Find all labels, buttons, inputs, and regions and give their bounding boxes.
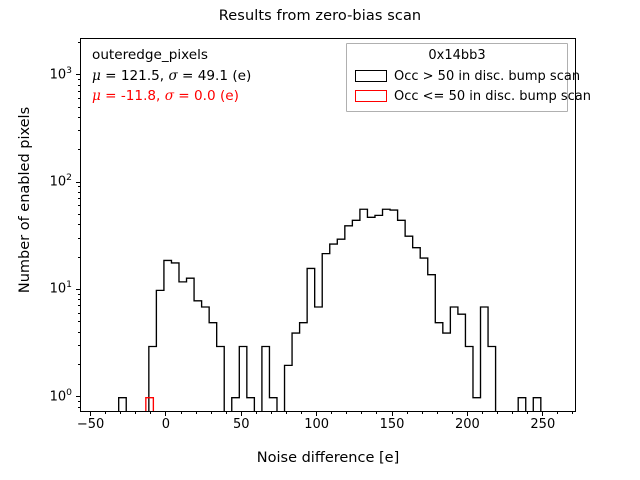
x-minor-tick-mark: [407, 412, 408, 414]
y-minor-tick-mark: [78, 117, 80, 118]
y-minor-tick-mark: [78, 321, 80, 322]
x-minor-tick-mark: [301, 412, 302, 414]
series-occ-gt-50: [119, 209, 541, 412]
stats-red-line: μ = -11.8, σ = 0.0 (e): [92, 86, 251, 107]
x-minor-tick-mark: [331, 412, 332, 414]
y-tick-mark: [76, 74, 80, 75]
x-tick-label: 0: [136, 417, 196, 432]
y-minor-tick-mark: [78, 305, 80, 306]
legend-label: Occ > 50 in disc. bump scan: [394, 69, 580, 84]
x-tick-label: 100: [287, 417, 347, 432]
y-tick-label: 102: [26, 172, 72, 189]
y-minor-tick-mark: [78, 192, 80, 193]
y-minor-tick-mark: [78, 345, 80, 346]
x-tick-mark: [241, 412, 242, 416]
x-tick-label: 150: [362, 417, 422, 432]
x-minor-tick-mark: [482, 412, 483, 414]
y-tick-label: 100: [26, 387, 72, 404]
y-minor-tick-mark: [78, 85, 80, 86]
x-minor-tick-mark: [256, 412, 257, 414]
dataset-label: outeredge_pixels: [92, 45, 251, 66]
x-minor-tick-mark: [211, 412, 212, 414]
x-minor-tick-mark: [361, 412, 362, 414]
x-minor-tick-mark: [376, 412, 377, 414]
x-minor-tick-mark: [346, 412, 347, 414]
legend-swatch: [355, 70, 387, 82]
x-tick-label: 50: [211, 417, 271, 432]
x-minor-tick-mark: [135, 412, 136, 414]
y-minor-tick-mark: [78, 313, 80, 314]
x-tick-mark: [316, 412, 317, 416]
histogram-step-path: [262, 346, 277, 412]
x-minor-tick-mark: [557, 412, 558, 414]
y-minor-tick-mark: [78, 238, 80, 239]
y-minor-tick-mark: [78, 130, 80, 131]
x-minor-tick-mark: [105, 412, 106, 414]
x-minor-tick-mark: [572, 412, 573, 414]
x-tick-label: 200: [437, 417, 497, 432]
x-tick-mark: [542, 412, 543, 416]
histogram-step-path: [285, 209, 496, 412]
figure-canvas: Results from zero-bias scan Number of en…: [0, 0, 640, 480]
y-minor-tick-mark: [78, 149, 80, 150]
x-axis-label: Noise difference [e]: [80, 450, 576, 466]
y-minor-tick-mark: [78, 332, 80, 333]
y-tick-mark: [76, 182, 80, 183]
y-minor-tick-mark: [78, 299, 80, 300]
y-minor-tick-mark: [78, 91, 80, 92]
x-minor-tick-mark: [452, 412, 453, 414]
x-tick-label: 250: [513, 417, 573, 432]
legend-entries: Occ > 50 in disc. bump scanOcc <= 50 in …: [353, 66, 561, 106]
x-minor-tick-mark: [527, 412, 528, 414]
series-occ-le-50: [146, 398, 154, 412]
histogram-step-path: [518, 398, 526, 412]
histogram-step-path: [149, 260, 224, 412]
y-minor-tick-mark: [78, 401, 80, 402]
y-tick-label: 103: [26, 65, 72, 82]
legend-entry: Occ <= 50 in disc. bump scan: [353, 86, 561, 106]
x-minor-tick-mark: [497, 412, 498, 414]
histogram-step-path: [119, 398, 127, 412]
y-tick-label: 101: [26, 279, 72, 296]
y-minor-tick-mark: [78, 214, 80, 215]
x-tick-mark: [392, 412, 393, 416]
x-minor-tick-mark: [226, 412, 227, 414]
y-minor-tick-mark: [78, 364, 80, 365]
y-minor-tick-mark: [78, 107, 80, 108]
legend-title: 0x14bb3: [353, 48, 561, 63]
y-tick-mark: [76, 396, 80, 397]
x-tick-mark: [90, 412, 91, 416]
x-minor-tick-mark: [437, 412, 438, 414]
y-minor-tick-mark: [78, 98, 80, 99]
x-tick-mark: [467, 412, 468, 416]
x-minor-tick-mark: [286, 412, 287, 414]
x-tick-label: −50: [61, 417, 121, 432]
y-minor-tick-mark: [78, 198, 80, 199]
x-minor-tick-mark: [512, 412, 513, 414]
x-minor-tick-mark: [150, 412, 151, 414]
legend-box: 0x14bb3 Occ > 50 in disc. bump scanOcc <…: [346, 43, 568, 112]
legend-entry: Occ > 50 in disc. bump scan: [353, 66, 561, 86]
x-tick-mark: [165, 412, 166, 416]
chart-title: Results from zero-bias scan: [0, 8, 640, 24]
y-minor-tick-mark: [78, 294, 80, 295]
y-minor-tick-mark: [78, 205, 80, 206]
stats-black-line: μ = 121.5, σ = 49.1 (e): [92, 66, 251, 87]
y-tick-mark: [76, 289, 80, 290]
x-minor-tick-mark: [181, 412, 182, 414]
y-minor-tick-mark: [78, 257, 80, 258]
y-minor-tick-mark: [78, 407, 80, 408]
y-minor-tick-mark: [78, 79, 80, 80]
x-minor-tick-mark: [422, 412, 423, 414]
legend-label: Occ <= 50 in disc. bump scan: [394, 89, 591, 104]
y-minor-tick-mark: [78, 224, 80, 225]
legend-swatch: [355, 90, 387, 102]
y-minor-tick-mark: [78, 186, 80, 187]
x-minor-tick-mark: [196, 412, 197, 414]
histogram-step-path: [146, 398, 154, 412]
x-minor-tick-mark: [271, 412, 272, 414]
x-minor-tick-mark: [120, 412, 121, 414]
histogram-step-path: [533, 398, 541, 412]
y-axis-label: Number of enabled pixels: [17, 0, 33, 400]
histogram-step-path: [232, 346, 255, 412]
stats-annotations: outeredge_pixels μ = 121.5, σ = 49.1 (e)…: [92, 45, 251, 107]
y-minor-tick-mark: [78, 42, 80, 43]
